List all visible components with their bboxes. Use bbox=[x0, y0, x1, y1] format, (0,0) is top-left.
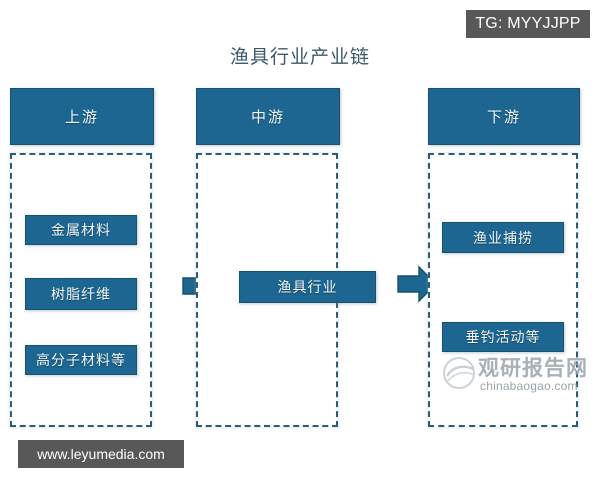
node-angling-activities[interactable]: 垂钓活动等 bbox=[442, 322, 564, 352]
node-fishing-tackle-industry[interactable]: 渔具行业 bbox=[239, 271, 376, 303]
infographic-canvas: TG: MYYJJPP 渔具行业产业链 上游 金属材料 树脂纤维 高分子材料等 … bbox=[0, 0, 600, 480]
node-polymer-materials[interactable]: 高分子材料等 bbox=[25, 345, 137, 375]
column-header-downstream: 下游 bbox=[428, 88, 580, 145]
column-body-downstream bbox=[428, 153, 578, 427]
node-fishery-harvesting[interactable]: 渔业捕捞 bbox=[442, 222, 564, 253]
tg-handle-badge: TG: MYYJJPP bbox=[466, 10, 590, 38]
page-title: 渔具行业产业链 bbox=[0, 42, 600, 69]
node-metal-materials[interactable]: 金属材料 bbox=[25, 215, 137, 245]
column-header-upstream: 上游 bbox=[10, 88, 154, 145]
node-resin-fiber[interactable]: 树脂纤维 bbox=[25, 278, 137, 310]
column-header-midstream: 中游 bbox=[196, 88, 340, 145]
footer-url-badge: www.leyumedia.com bbox=[18, 440, 184, 468]
